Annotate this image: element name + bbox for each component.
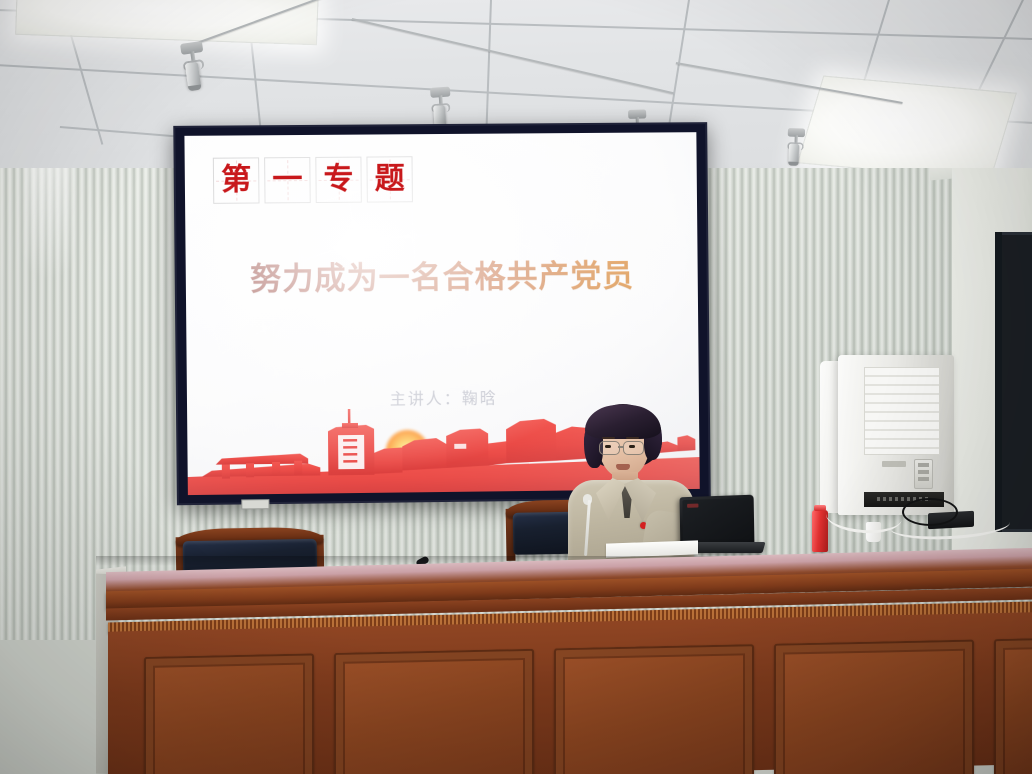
topic-char-3: 专: [323, 165, 353, 195]
ac-side-panel: [820, 361, 840, 513]
topic-char-1: 第: [221, 165, 251, 195]
topic-char-4: 题: [375, 164, 405, 194]
desk-front-body: [108, 612, 1032, 774]
ac-body: [838, 355, 954, 515]
topic-char-box-1: 第: [213, 157, 260, 203]
laptop-lid: [680, 495, 755, 546]
desk-panel-2: [334, 649, 534, 774]
eye-right: [629, 445, 635, 448]
desk-panel-4: [774, 640, 974, 774]
eye-left: [605, 445, 611, 448]
ac-grille: [864, 367, 940, 455]
desk-panel-5: [994, 638, 1032, 774]
screen-pull-tab: [241, 499, 269, 509]
air-conditioner[interactable]: [838, 355, 954, 515]
eyebrow-right: [626, 437, 639, 439]
podium-desk: [96, 560, 1032, 774]
ac-brand-logo: [882, 461, 906, 467]
laptop-logo: [687, 504, 698, 508]
desk-panel-3: [554, 644, 754, 774]
topic-char-box-2: 一: [264, 157, 311, 203]
eyeglasses-left-lens: [599, 441, 620, 455]
ac-control-panel[interactable]: [914, 459, 933, 489]
mouth: [616, 464, 630, 470]
topic-char-box-4: 题: [366, 156, 412, 202]
topic-char-2: 一: [272, 165, 302, 195]
slide-topic-boxes: 第 一 专 题: [213, 156, 413, 204]
hair-fringe: [585, 405, 661, 439]
desk-panel-1: [144, 653, 314, 774]
eyeglasses-bridge: [618, 446, 624, 448]
eyebrow-left: [602, 437, 615, 439]
black-cable-coil: [902, 498, 958, 526]
slide-title: 努力成为一名合格共产党员: [186, 250, 698, 300]
topic-char-box-3: 专: [315, 157, 362, 203]
lecture-hall-scene: 第 一 专 题 努力成为一名合格共产党员 主讲人：鞠晗: [0, 0, 1032, 774]
eyeglasses-right-lens: [623, 441, 644, 455]
window-mullion: [995, 232, 1002, 532]
